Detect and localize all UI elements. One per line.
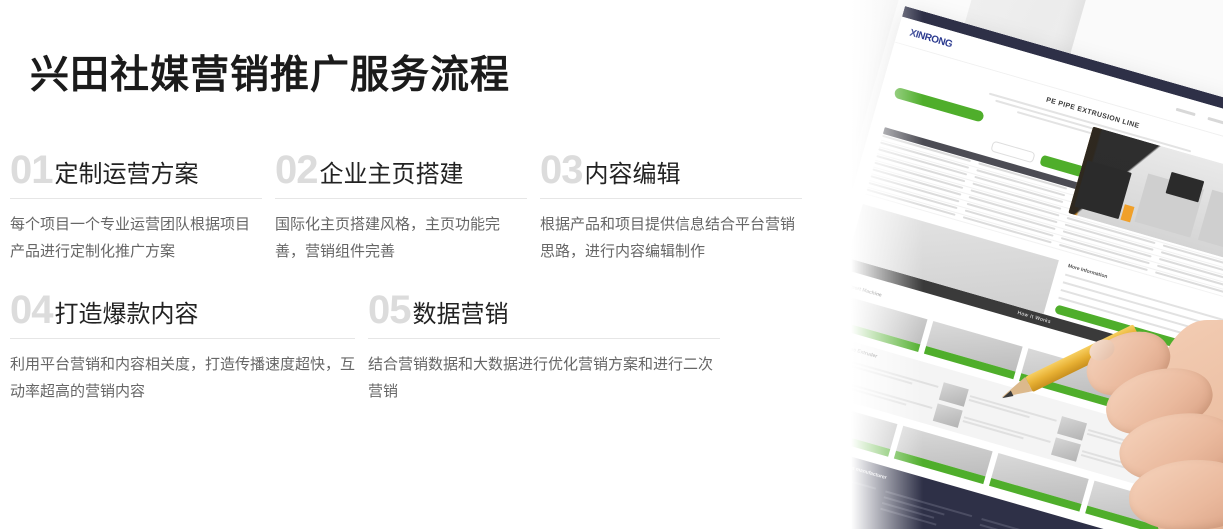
step-item-03: 03 内容编辑 根据产品和项目提供信息结合平台营销思路，进行内容编辑制作 xyxy=(540,150,802,265)
step-item-05: 05 数据营销 结合营销数据和大数据进行优化营销方案和进行二次营销 xyxy=(368,290,720,405)
step-title: 定制运营方案 xyxy=(55,160,199,190)
step-header: 01 定制运营方案 xyxy=(10,150,262,199)
page-title: 兴田社媒营销推广服务流程 xyxy=(30,52,510,100)
step-number: 02 xyxy=(275,150,318,190)
step-title: 数据营销 xyxy=(413,300,509,330)
step-header: 03 内容编辑 xyxy=(540,150,802,199)
step-item-01: 01 定制运营方案 每个项目一个专业运营团队根据项目产品进行定制化推广方案 xyxy=(10,150,262,265)
step-header: 02 企业主页搭建 xyxy=(275,150,527,199)
hand-with-pencil xyxy=(1001,300,1223,529)
step-header: 05 数据营销 xyxy=(368,290,720,339)
step-description: 每个项目一个专业运营团队根据项目产品进行定制化推广方案 xyxy=(10,211,262,265)
promo-page: XINRONG PE PIPE EXTRUSION LINE xyxy=(0,0,1223,529)
website-mockup-artwork: XINRONG PE PIPE EXTRUSION LINE xyxy=(803,0,1223,529)
step-title: 企业主页搭建 xyxy=(320,160,464,190)
step-item-02: 02 企业主页搭建 国际化主页搭建风格，主页功能完善，营销组件完善 xyxy=(275,150,527,265)
step-title: 打造爆款内容 xyxy=(55,300,199,330)
step-description: 利用平台营销和内容相关度，打造传播速度超快，互动率超高的营销内容 xyxy=(10,351,355,405)
step-number: 01 xyxy=(10,150,53,190)
step-description: 根据产品和项目提供信息结合平台营销思路，进行内容编辑制作 xyxy=(540,211,802,265)
step-number: 05 xyxy=(368,290,411,330)
step-number: 04 xyxy=(10,290,53,330)
step-description: 国际化主页搭建风格，主页功能完善，营销组件完善 xyxy=(275,211,527,265)
text-content: 兴田社媒营销推广服务流程 01 定制运营方案 每个项目一个专业运营团队根据项目产… xyxy=(0,0,830,529)
step-number: 03 xyxy=(540,150,583,190)
step-header: 04 打造爆款内容 xyxy=(10,290,355,339)
step-description: 结合营销数据和大数据进行优化营销方案和进行二次营销 xyxy=(368,351,720,405)
step-title: 内容编辑 xyxy=(585,160,681,190)
step-item-04: 04 打造爆款内容 利用平台营销和内容相关度，打造传播速度超快，互动率超高的营销… xyxy=(10,290,355,405)
